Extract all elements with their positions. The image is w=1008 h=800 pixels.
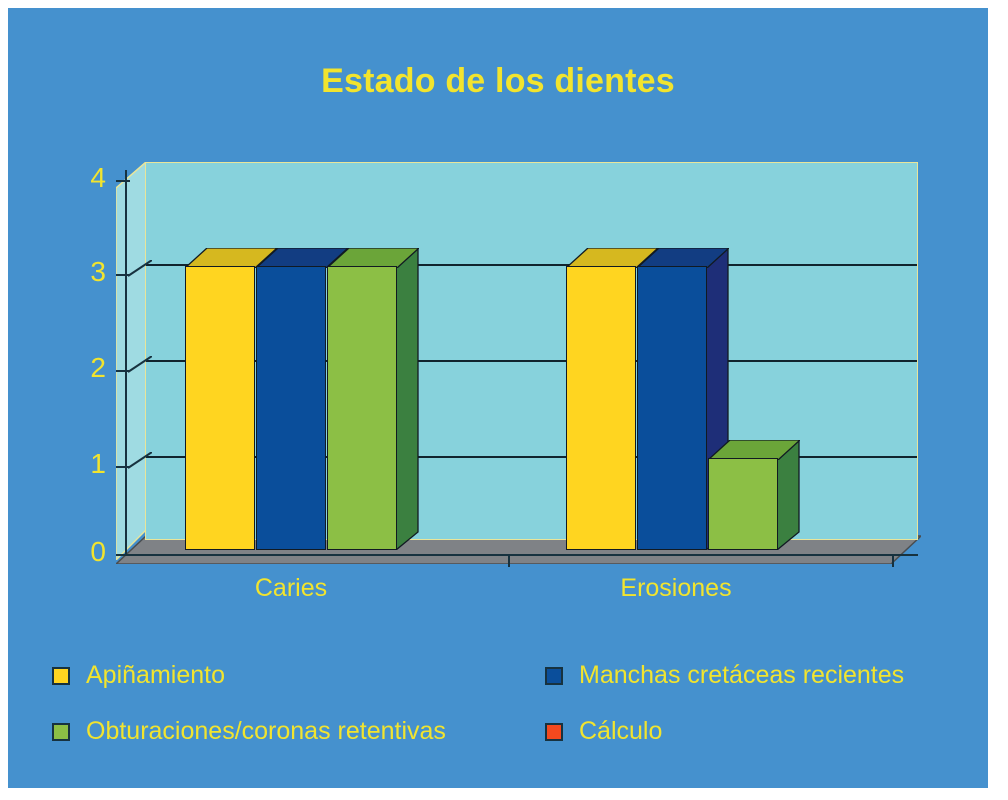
legend-label-obturaciones: Obturaciones/coronas retentivas	[86, 719, 446, 744]
bar-caries-obturaciones	[327, 266, 397, 550]
y-axis-line	[125, 170, 127, 555]
bar-side-face	[396, 248, 420, 550]
bar-erosiones-obturaciones	[708, 458, 778, 550]
chart-legend: Apiñamiento Manchas cretáceas recientes …	[8, 648, 988, 768]
bar-caries-apinamiento	[185, 266, 255, 550]
legend-label-calculo: Cálculo	[579, 719, 662, 744]
tick-connector-3	[128, 260, 152, 280]
bar-erosiones-manchas	[637, 266, 707, 550]
x-tick-end	[892, 554, 894, 567]
y-axis-label-4: 4	[60, 164, 106, 192]
bar-front-face	[637, 266, 707, 550]
bar-front-face	[566, 266, 636, 550]
legend-item-apinamiento[interactable]: Apiñamiento	[52, 663, 225, 688]
bar-top-face	[327, 248, 419, 268]
bar-front-face	[185, 266, 255, 550]
bar-erosiones-apinamiento	[566, 266, 636, 550]
x-axis-label-erosiones: Erosiones	[596, 574, 756, 603]
legend-item-calculo[interactable]: Cálculo	[545, 719, 662, 744]
bar-top-face	[708, 440, 800, 460]
legend-label-manchas: Manchas cretáceas recientes	[579, 663, 904, 688]
y-tick-4	[116, 180, 130, 182]
bar-top-face	[637, 248, 729, 268]
legend-item-obturaciones[interactable]: Obturaciones/coronas retentivas	[52, 719, 446, 744]
legend-label-apinamiento: Apiñamiento	[86, 663, 225, 688]
y-axis-label-2: 2	[60, 354, 106, 382]
legend-swatch-icon-obturaciones	[52, 723, 70, 741]
tick-connector-1	[128, 452, 152, 472]
y-axis-label-1: 1	[60, 450, 106, 478]
bar-caries-manchas	[256, 266, 326, 550]
y-axis-label-0: 0	[60, 538, 106, 566]
legend-swatch-icon-calculo	[545, 723, 563, 741]
y-axis-label-3: 3	[60, 258, 106, 286]
bar-front-face	[327, 266, 397, 550]
tick-connector-2	[128, 356, 152, 376]
slide-canvas: Estado de los dientes	[8, 8, 988, 788]
x-axis-line	[125, 554, 918, 556]
legend-item-manchas[interactable]: Manchas cretáceas recientes	[545, 663, 904, 688]
bar-front-face	[708, 458, 778, 550]
x-tick-divider	[508, 554, 510, 567]
legend-swatch-icon-apinamiento	[52, 667, 70, 685]
bar-front-face	[256, 266, 326, 550]
legend-swatch-icon-manchas	[545, 667, 563, 685]
x-axis-label-caries: Caries	[221, 574, 361, 603]
